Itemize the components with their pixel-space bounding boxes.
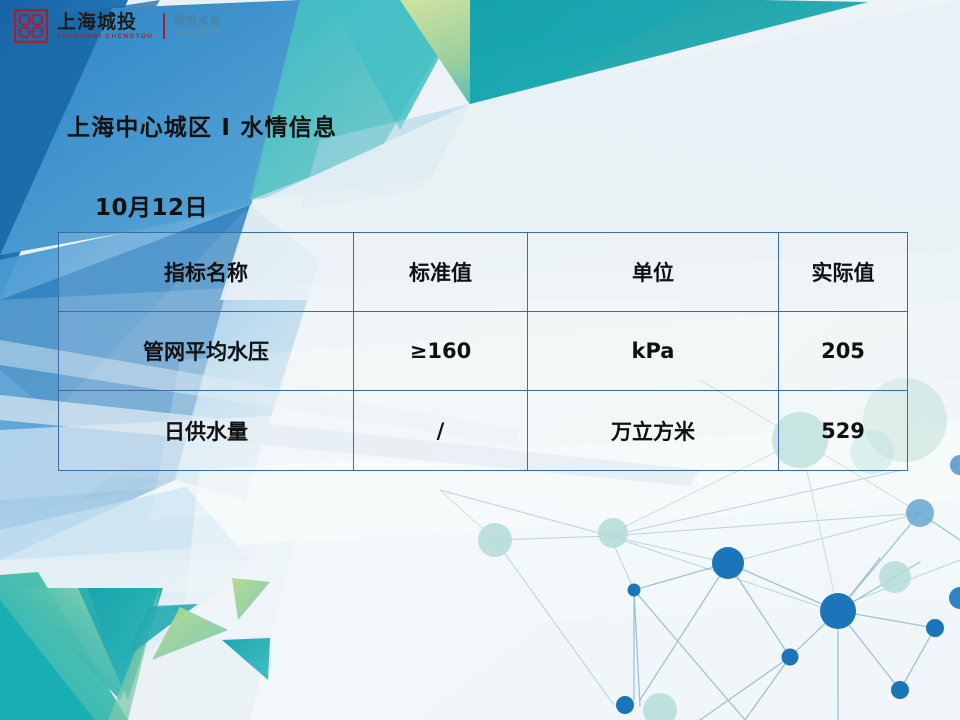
column-header-indicator: 指标名称 xyxy=(59,233,354,312)
cell-unit: kPa xyxy=(528,312,779,391)
water-status-table: 指标名称 标准值 单位 实际值 管网平均水压 ≥160 kPa 205 日供水量… xyxy=(58,232,908,471)
cell-unit: 万立方米 xyxy=(528,391,779,471)
cell-standard-value: ≥160 xyxy=(354,312,528,391)
company-logo: 上海城投 SHANGHAI CHENGTOU 城投水务 WATER xyxy=(14,7,222,45)
cell-standard-value: / xyxy=(354,391,528,471)
report-date: 10月12日 xyxy=(95,188,208,222)
page-title: 上海中心城区 Ⅰ 水情信息 xyxy=(67,108,337,142)
cell-indicator-name: 日供水量 xyxy=(59,391,354,471)
column-header-standard: 标准值 xyxy=(354,233,528,312)
logo-sub-en: WATER xyxy=(174,27,222,39)
column-header-actual: 实际值 xyxy=(779,233,908,312)
column-header-unit: 单位 xyxy=(528,233,779,312)
table-row: 管网平均水压 ≥160 kPa 205 xyxy=(59,312,908,391)
shanghai-chengtou-emblem-icon xyxy=(14,9,48,43)
cell-actual-value: 529 xyxy=(779,391,908,471)
presentation-slide: 上海城投 SHANGHAI CHENGTOU 城投水务 WATER 上海中心城区… xyxy=(0,0,960,720)
table-row: 日供水量 / 万立方米 529 xyxy=(59,391,908,471)
logo-divider xyxy=(163,13,165,39)
logo-name-en: SHANGHAI CHENGTOU xyxy=(57,33,153,41)
logo-sub-cn: 城投水务 xyxy=(174,14,222,27)
cell-indicator-name: 管网平均水压 xyxy=(59,312,354,391)
cell-actual-value: 205 xyxy=(779,312,908,391)
logo-name-cn: 上海城投 xyxy=(57,12,153,32)
table-header-row: 指标名称 标准值 单位 实际值 xyxy=(59,233,908,312)
